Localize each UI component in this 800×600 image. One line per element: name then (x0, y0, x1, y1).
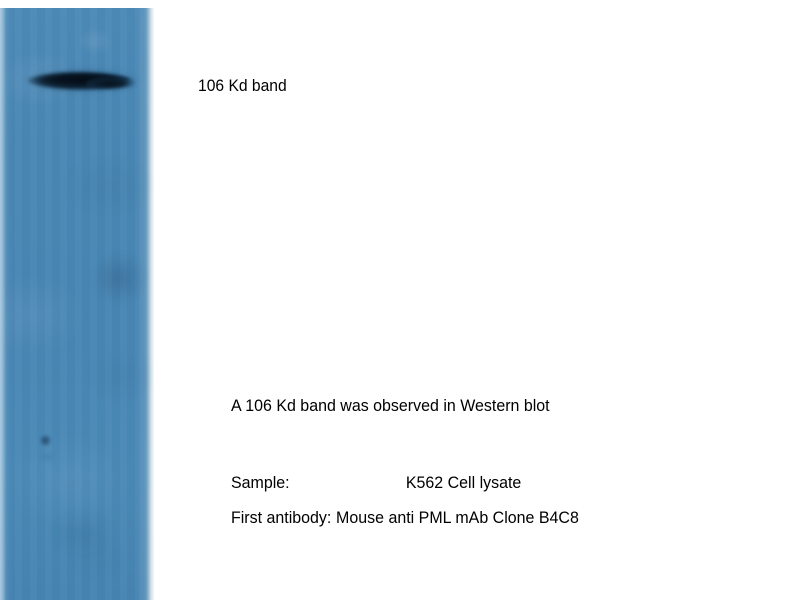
membrane-artifact-top (78, 28, 112, 54)
first-antibody-value: Mouse anti PML mAb Clone B4C8 (336, 508, 579, 527)
sample-value: K562 Cell lysate (406, 473, 521, 492)
band-halo (24, 66, 138, 96)
western-blot-figure: 106 Kd band A 106 Kd band was observed i… (0, 0, 800, 600)
membrane-texture (0, 8, 154, 600)
membrane-artifact-middle (96, 256, 142, 300)
membrane-speck (40, 435, 51, 446)
protein-band-106kd (24, 66, 138, 96)
band-annotation-label: 106 Kd band (198, 76, 287, 96)
band-core-dense (34, 73, 130, 86)
band-tail (86, 77, 138, 91)
sample-row: Sample:K562 Cell lysate (231, 473, 521, 493)
band-core (28, 71, 134, 90)
first-antibody-label: First antibody: (231, 508, 331, 528)
membrane-artifact-lower (52, 513, 112, 553)
figure-caption: A 106 Kd band was observed in Western bl… (231, 396, 550, 416)
membrane-striping (0, 8, 154, 600)
blot-lane-image (0, 8, 154, 600)
first-antibody-row: First antibody:Mouse anti PML mAb Clone … (231, 508, 579, 528)
sample-label: Sample: (231, 473, 406, 493)
membrane-speck-secondary (41, 453, 55, 461)
